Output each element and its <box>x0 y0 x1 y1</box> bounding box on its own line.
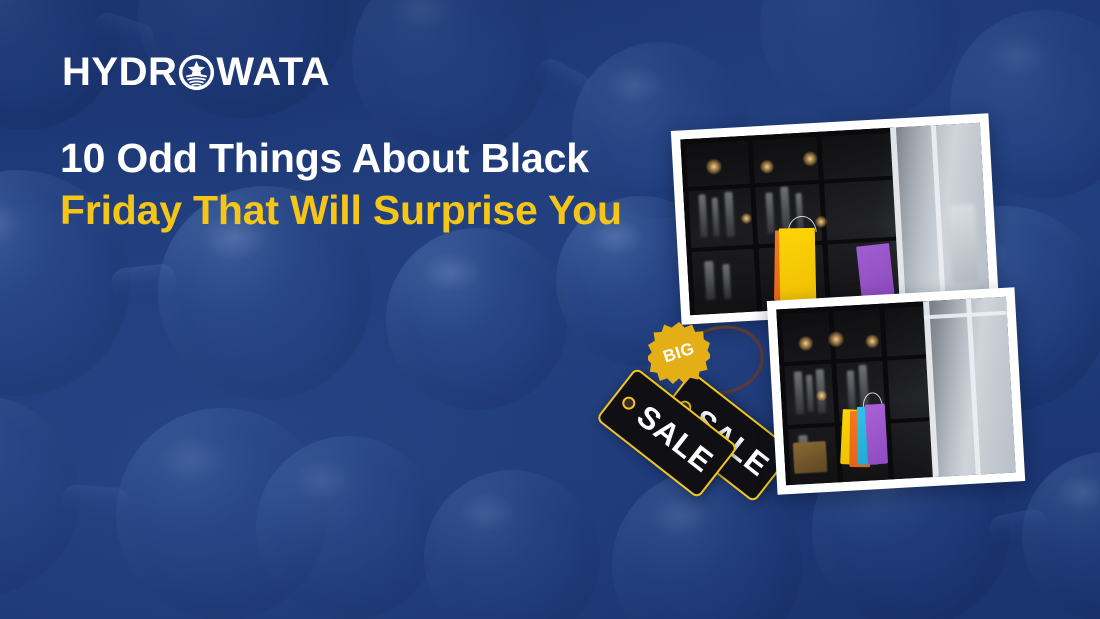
headline: 10 Odd Things About Black Friday That Wi… <box>60 132 680 236</box>
photo-shopper-two-image <box>776 297 1015 486</box>
headline-line-1: 10 Odd Things About Black <box>60 132 680 184</box>
brand-logo[interactable]: HYDR WATA <box>62 52 330 92</box>
headline-line-2: Friday That Will Surprise You <box>60 184 680 236</box>
brand-name-part-2: WATA <box>216 52 330 92</box>
brand-name-part-1: HYDR <box>62 52 177 92</box>
photo-shopper-one-image <box>680 123 989 315</box>
photo-shopper-two <box>767 287 1025 495</box>
tag-hole-front <box>620 394 638 412</box>
brand-logo-text: HYDR WATA <box>62 52 330 92</box>
sun-wave-circle-icon <box>178 54 215 91</box>
big-badge-label: BIG <box>661 339 697 368</box>
promo-banner: HYDR WATA 10 Odd Things About Black Frid… <box>0 0 1100 619</box>
